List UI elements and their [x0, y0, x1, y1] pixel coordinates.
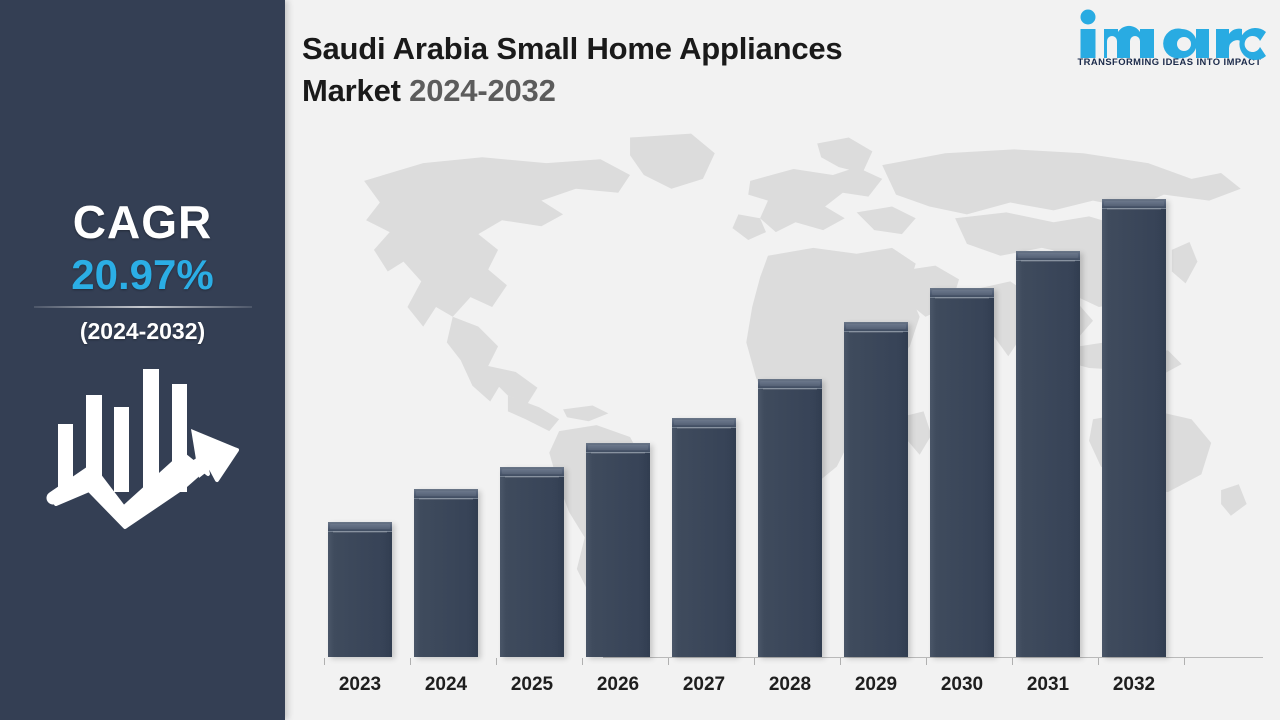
- axis-tick: [1184, 658, 1185, 665]
- x-label-2024: 2024: [406, 674, 486, 696]
- x-label-2030: 2030: [922, 674, 1002, 696]
- bar-top-face: [588, 445, 648, 450]
- axis-tick: [1012, 658, 1013, 665]
- x-label-2027: 2027: [664, 674, 744, 696]
- x-label-2032: 2032: [1094, 674, 1174, 696]
- bar-2031: [1016, 251, 1080, 657]
- axis-tick: [926, 658, 927, 665]
- axis-tick: [582, 658, 583, 665]
- bar-top-face: [674, 420, 734, 425]
- sidebar-panel: CAGR 20.97% (2024-2032): [0, 0, 285, 720]
- main-panel: Saudi Arabia Small Home Appliances Marke…: [285, 0, 1280, 720]
- axis-tick: [754, 658, 755, 665]
- bar-chart: 2023 2024 2025 2026 2027 2028 2029 2030 …: [285, 0, 1280, 720]
- axis-tick: [324, 658, 325, 665]
- bar-2023: [328, 522, 392, 657]
- bar-2030: [930, 288, 994, 657]
- bar-top-face: [932, 290, 992, 295]
- axis-tick: [496, 658, 497, 665]
- cagr-value: 20.97%: [0, 250, 285, 300]
- bar-top-face: [846, 324, 906, 329]
- x-label-2031: 2031: [1008, 674, 1088, 696]
- bar-top-face: [502, 469, 562, 474]
- bar-top-face: [760, 381, 820, 386]
- chart-axis-line: [603, 657, 1263, 658]
- x-label-2023: 2023: [320, 674, 400, 696]
- cagr-label: CAGR: [0, 196, 285, 248]
- cagr-divider: [34, 306, 252, 308]
- cagr-block: CAGR 20.97% (2024-2032): [0, 196, 285, 347]
- axis-tick: [410, 658, 411, 665]
- x-label-2029: 2029: [836, 674, 916, 696]
- bar-2027: [672, 418, 736, 657]
- x-label-2028: 2028: [750, 674, 830, 696]
- bar-2028: [758, 379, 822, 657]
- bar-2025: [500, 467, 564, 657]
- axis-tick: [668, 658, 669, 665]
- axis-tick: [1098, 658, 1099, 665]
- axis-tick: [840, 658, 841, 665]
- x-label-2026: 2026: [578, 674, 658, 696]
- bar-top-face: [1018, 253, 1078, 258]
- x-label-2025: 2025: [492, 674, 572, 696]
- bar-top-face: [1104, 201, 1164, 206]
- bar-top-face: [330, 524, 390, 529]
- cagr-period: (2024-2032): [0, 315, 285, 347]
- bar-2032: [1102, 199, 1166, 657]
- bar-2024: [414, 489, 478, 657]
- infographic-page: CAGR 20.97% (2024-2032): [0, 0, 1280, 720]
- growth-bar-chart-arrow-icon: [41, 362, 246, 534]
- bar-2026: [586, 443, 650, 657]
- bar-top-face: [416, 491, 476, 496]
- bar-2029: [844, 322, 908, 657]
